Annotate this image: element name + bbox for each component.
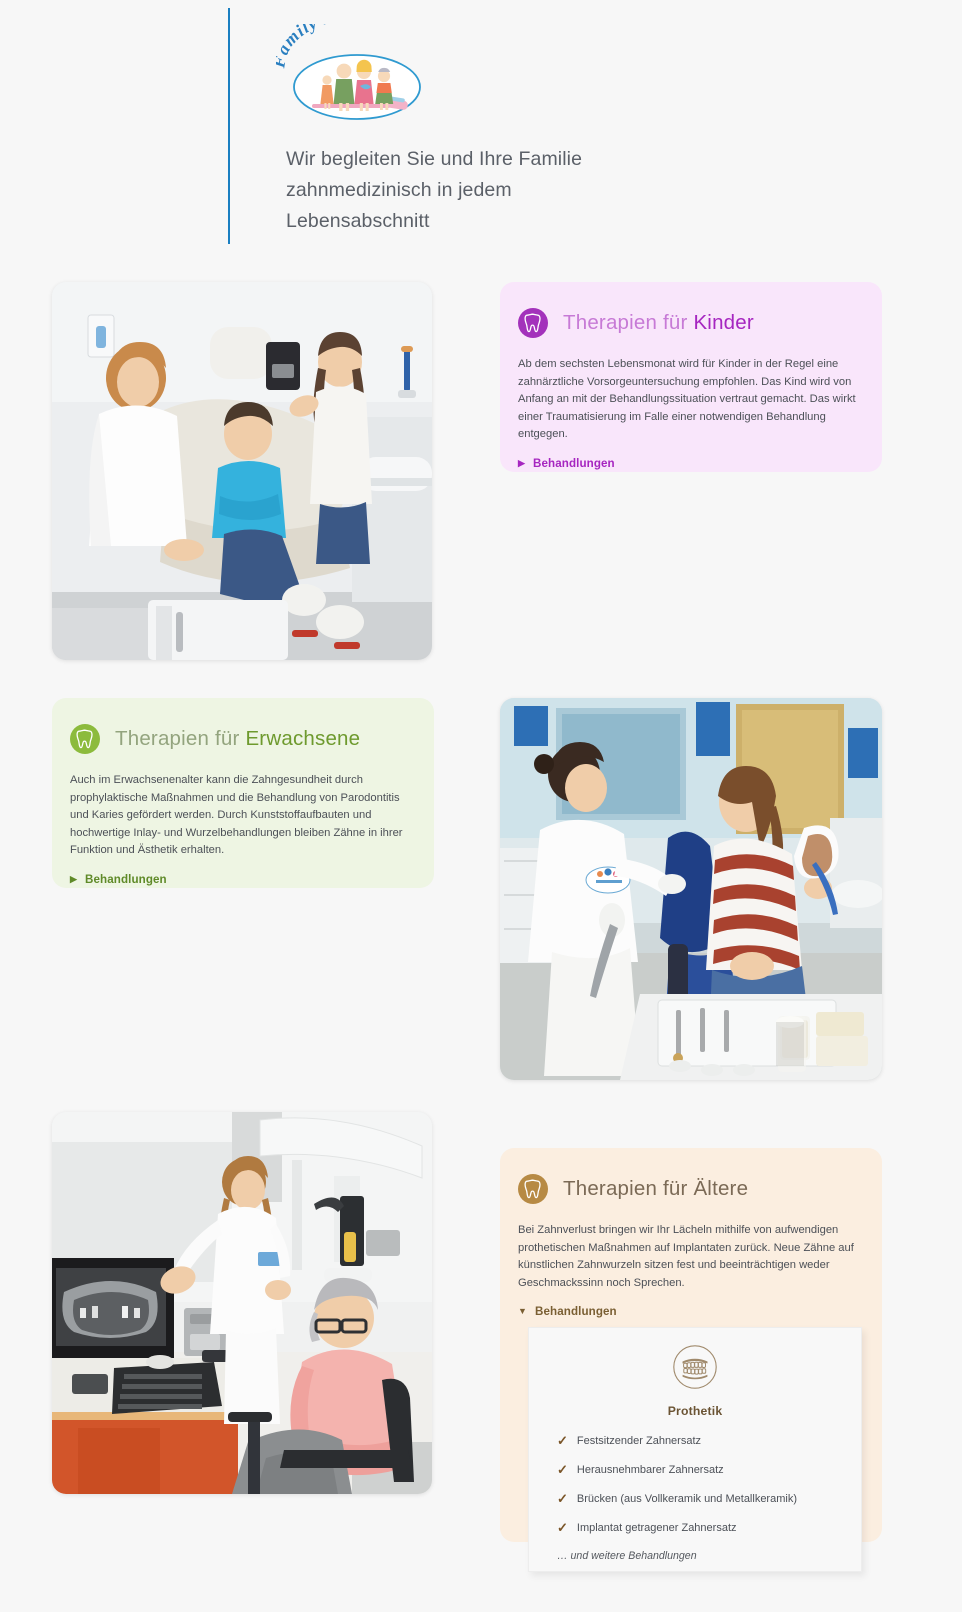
- card-header-kinder: Therapien für Kinder: [518, 308, 860, 338]
- header-tagline: Wir begleiten Sie und Ihre Familie zahnm…: [286, 144, 646, 237]
- card-title-aeltere: Therapien für Ältere: [563, 1177, 748, 1201]
- list-item-label: Implantat getragener Zahnersatz: [577, 1521, 737, 1536]
- card-title-prefix: Therapien für: [115, 727, 245, 750]
- toggle-behandlungen-aeltere[interactable]: ▼ Behandlungen: [518, 1305, 860, 1318]
- card-body-kinder: Ab dem sechsten Lebensmonat wird für Kin…: [518, 356, 860, 444]
- card-header-aeltere: Therapien für Ältere: [518, 1174, 860, 1204]
- list-item: ✓ Festsitzender Zahnersatz: [557, 1434, 861, 1449]
- header-accent-rule: [228, 8, 230, 244]
- photo-adult-patient-mirror: [500, 698, 882, 1080]
- check-icon: ✓: [557, 1434, 568, 1448]
- toggle-label: Behandlungen: [533, 457, 615, 470]
- card-title-accent: Kinder: [693, 311, 753, 334]
- list-item-label: Brücken (aus Vollkeramik und Metallkeram…: [577, 1492, 797, 1507]
- triangle-right-icon: ▶: [518, 459, 525, 468]
- triangle-right-icon: ▶: [70, 875, 77, 884]
- card-title-kinder: Therapien für Kinder: [563, 311, 754, 335]
- card-title-prefix: Therapien für: [563, 311, 693, 334]
- toggle-label: Behandlungen: [85, 873, 167, 886]
- card-header-erwachsene: Therapien für Erwachsene: [70, 724, 412, 754]
- panel-more-text: … und weitere Behandlungen: [529, 1550, 861, 1562]
- toggle-behandlungen-kinder[interactable]: ▶ Behandlungen: [518, 457, 860, 470]
- treatment-list: ✓ Festsitzender Zahnersatz ✓ Herausnehmb…: [529, 1434, 861, 1536]
- denture-icon: [529, 1344, 861, 1390]
- panel-title: Prothetik: [529, 1404, 861, 1418]
- family-dentist-logo: Family Dentist: [276, 24, 436, 124]
- triangle-down-icon: ▼: [518, 1307, 527, 1316]
- card-body-erwachsene: Auch im Erwachsenenalter kann die Zahnge…: [70, 772, 412, 860]
- photo-children-dental-chair: [52, 282, 432, 660]
- card-therapien-aeltere[interactable]: Therapien für Ältere Bei Zahnverlust bri…: [500, 1148, 882, 1542]
- card-therapien-kinder[interactable]: Therapien für Kinder Ab dem sechsten Leb…: [500, 282, 882, 472]
- list-item: ✓ Brücken (aus Vollkeramik und Metallker…: [557, 1492, 861, 1507]
- page-root: Family Dentist: [0, 0, 962, 1612]
- list-item: ✓ Implantat getragener Zahnersatz: [557, 1521, 861, 1536]
- card-therapien-erwachsene[interactable]: Therapien für Erwachsene Auch im Erwachs…: [52, 698, 434, 888]
- card-title-accent: Erwachsene: [245, 727, 360, 750]
- card-title-erwachsene: Therapien für Erwachsene: [115, 727, 360, 751]
- card-title-prefix: Therapien für: [563, 1177, 693, 1200]
- card-body-aeltere: Bei Zahnverlust bringen wir Ihr Lächeln …: [518, 1222, 860, 1292]
- toggle-label: Behandlungen: [535, 1305, 617, 1318]
- toggle-behandlungen-erwachsene[interactable]: ▶ Behandlungen: [70, 873, 412, 886]
- tooth-icon: [518, 1174, 548, 1204]
- page-header: Family Dentist: [228, 8, 658, 244]
- treatment-panel-prothetik: Prothetik ✓ Festsitzender Zahnersatz ✓ H…: [528, 1327, 862, 1572]
- list-item-label: Festsitzender Zahnersatz: [577, 1434, 701, 1449]
- check-icon: ✓: [557, 1521, 568, 1535]
- check-icon: ✓: [557, 1463, 568, 1477]
- tooth-icon: [518, 308, 548, 338]
- card-title-accent: Ältere: [693, 1177, 748, 1200]
- tooth-icon: [70, 724, 100, 754]
- list-item-label: Herausnehmbarer Zahnersatz: [577, 1463, 724, 1478]
- photo-senior-panoramic-xray: [52, 1112, 432, 1494]
- check-icon: ✓: [557, 1492, 568, 1506]
- list-item: ✓ Herausnehmbarer Zahnersatz: [557, 1463, 861, 1478]
